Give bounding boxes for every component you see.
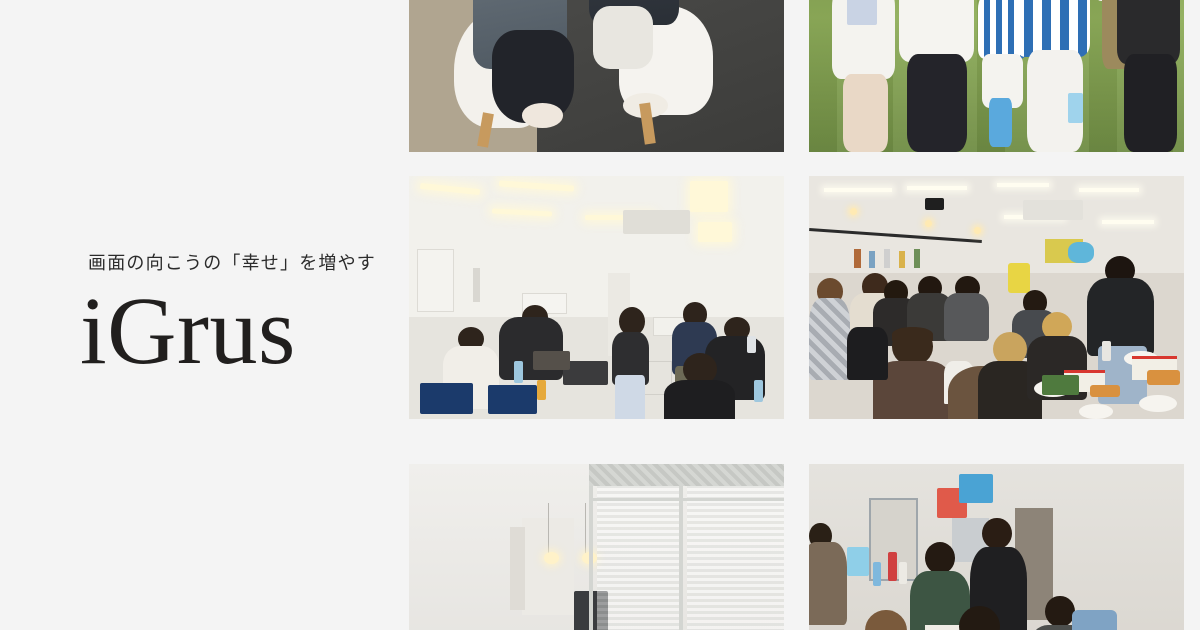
photo-office-party: Office social gathering with a wood-pane… [809,176,1184,419]
photo-seminar-room: Bright white seminar room with fluoresce… [409,176,784,419]
photo-grid: Two people seated at desks from behind i… [0,0,1200,630]
photo-presentation: Person [409,464,784,630]
photo-futsal-team: Group photo of team members in white and… [809,0,1184,152]
ogp-card: 画面の向こうの「幸せ」を増やす iGrus [0,0,1200,630]
photo-office-desk-pair: Two people seated at desks from behind i… [409,0,784,152]
photo-office-lounge: Office lounge with a counter bar, a fram… [809,464,1184,630]
